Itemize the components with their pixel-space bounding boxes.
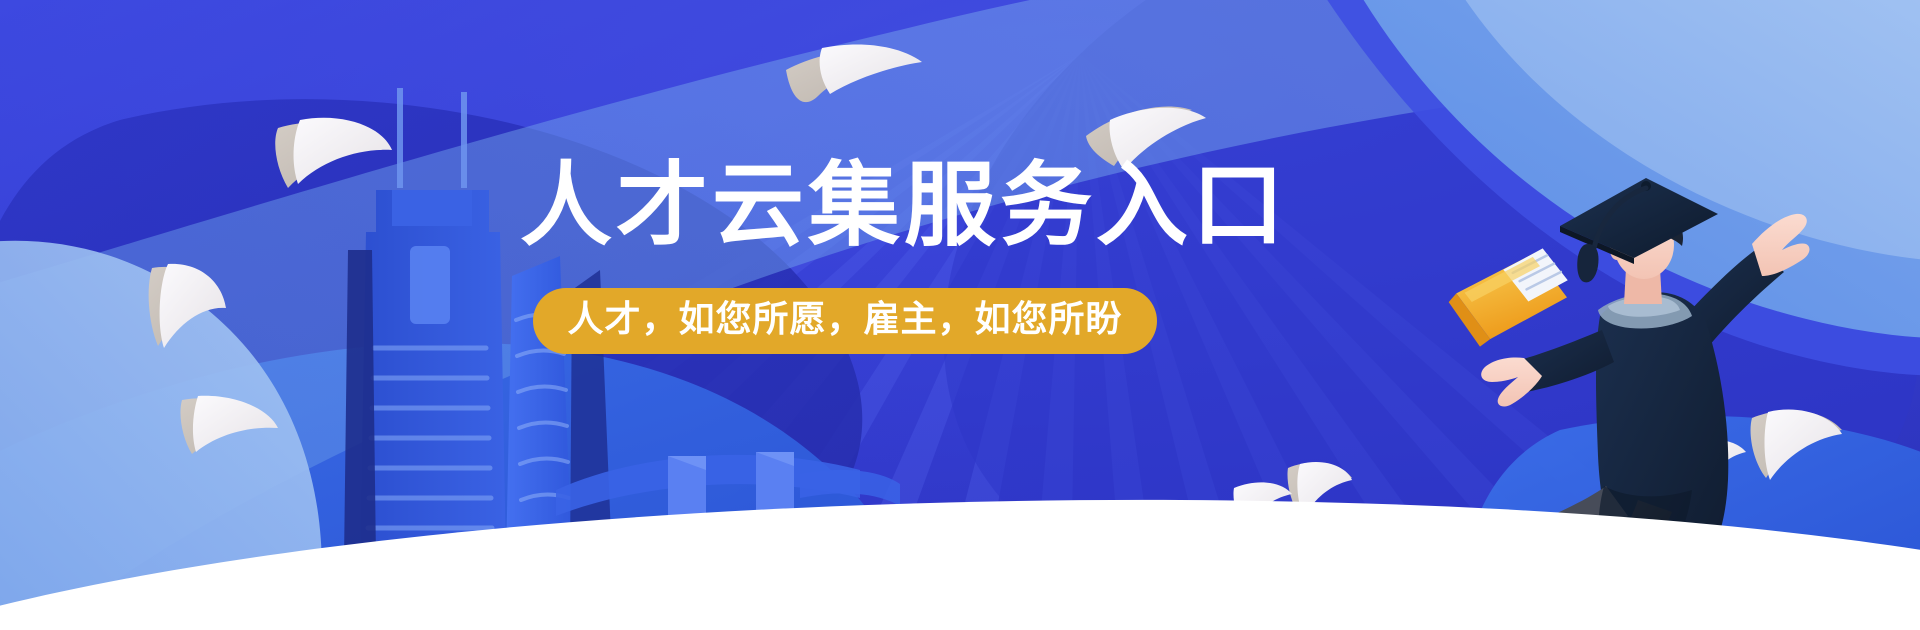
subtitle-label: 人才，如您所愿，雇主，如您所盼 [567, 300, 1122, 340]
tower-antenna-right [461, 92, 467, 188]
main-tower [360, 190, 506, 560]
subtitle-pill[interactable]: 人才，如您所愿，雇主，如您所盼 [533, 288, 1156, 354]
promo-banner: 人才云集服务入口 人才，如您所愿，雇主，如您所盼 [0, 0, 1920, 630]
tower-antenna-left [397, 88, 403, 188]
main-tower-crown [392, 190, 472, 226]
slim-dark-tower-left [344, 250, 376, 560]
main-tower-window [410, 246, 450, 324]
